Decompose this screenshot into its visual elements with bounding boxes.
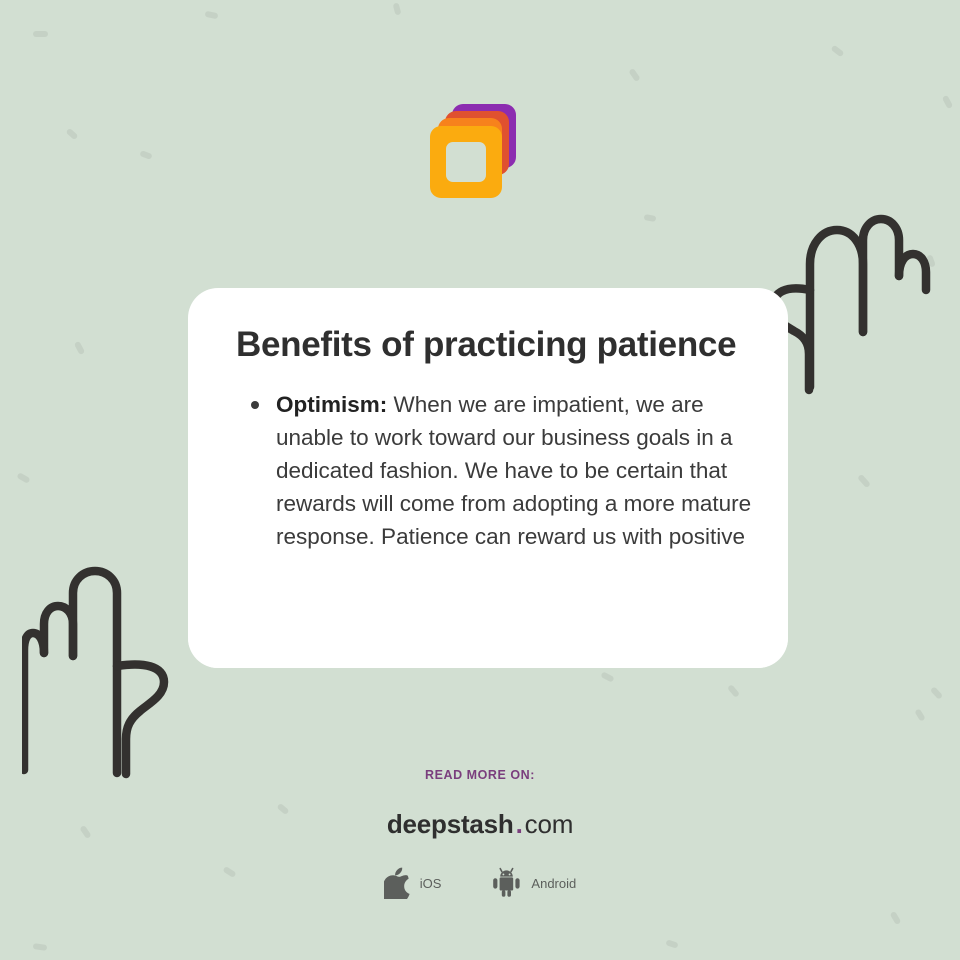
apple-icon bbox=[384, 867, 411, 899]
confetti-dash bbox=[831, 45, 845, 58]
confetti-dash bbox=[665, 939, 678, 948]
confetti-dash bbox=[727, 684, 740, 698]
confetti-dash bbox=[74, 341, 85, 355]
android-store-badge[interactable]: Android bbox=[491, 867, 576, 899]
list-item: Optimism: When we are impatient, we are … bbox=[236, 388, 754, 553]
ios-store-badge[interactable]: iOS bbox=[384, 867, 442, 899]
content-card: Benefits of practicing patience Optimism… bbox=[188, 288, 788, 668]
confetti-dash bbox=[205, 11, 219, 20]
android-label: Android bbox=[531, 876, 576, 891]
confetti-dash bbox=[930, 686, 943, 700]
idea-bullet-list: Optimism: When we are impatient, we are … bbox=[236, 388, 754, 553]
confetti-dash bbox=[66, 128, 79, 140]
wordmark-dot: . bbox=[514, 809, 525, 839]
deepstash-wordmark[interactable]: deepstash.com bbox=[0, 809, 960, 840]
ios-label: iOS bbox=[420, 876, 442, 891]
footer: READ MORE ON: deepstash.com iOS bbox=[0, 768, 960, 899]
bullet-lead-label: Optimism: bbox=[276, 392, 387, 417]
logo-center-cutout bbox=[446, 142, 486, 182]
wordmark-tld: com bbox=[525, 809, 574, 839]
card-fade-overlay bbox=[188, 590, 788, 668]
confetti-dash bbox=[33, 31, 48, 37]
wordmark-name: deepstash bbox=[387, 809, 514, 839]
pointing-hand-icon bbox=[22, 558, 202, 783]
confetti-dash bbox=[644, 214, 657, 222]
confetti-dash bbox=[914, 708, 925, 721]
poster-canvas: Benefits of practicing patience Optimism… bbox=[0, 0, 960, 960]
confetti-dash bbox=[890, 911, 902, 925]
confetti-dash bbox=[628, 68, 640, 82]
read-more-label: READ MORE ON: bbox=[0, 768, 960, 782]
page-title: Benefits of practicing patience bbox=[236, 320, 754, 370]
confetti-dash bbox=[33, 943, 48, 951]
confetti-dash bbox=[16, 472, 30, 484]
android-icon bbox=[491, 867, 522, 899]
confetti-dash bbox=[393, 2, 402, 15]
confetti-dash bbox=[857, 474, 871, 488]
confetti-dash bbox=[942, 95, 953, 109]
store-badges: iOS bbox=[0, 867, 960, 899]
confetti-dash bbox=[139, 150, 152, 160]
deepstash-logo bbox=[430, 104, 516, 196]
confetti-dash bbox=[600, 671, 614, 682]
bullet-dot-icon bbox=[251, 401, 259, 409]
